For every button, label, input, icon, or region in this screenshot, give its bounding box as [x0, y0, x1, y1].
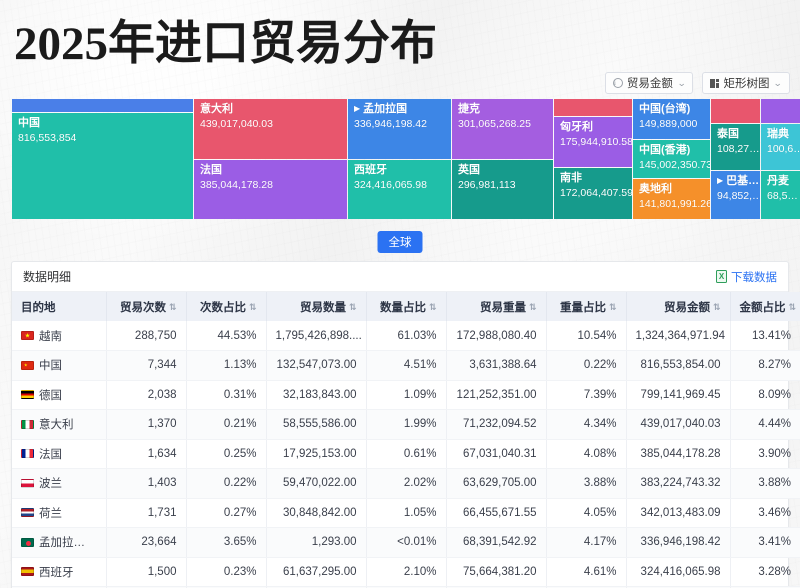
flag-icon-es	[21, 567, 34, 576]
destination-wrapper: 中国	[21, 357, 97, 373]
cell-destination: 越南	[12, 321, 106, 351]
column-header-label: 次数占比	[200, 302, 246, 314]
cell-destination: 西班牙	[12, 557, 106, 587]
cell-quantity: 1,293.00	[266, 528, 366, 558]
chevron-down-icon: ⌄	[774, 78, 783, 89]
cell-trade_count: 1,500	[106, 557, 186, 587]
treemap-cell-value: 149,889,000	[639, 118, 704, 131]
play-triangle-icon: ▶	[354, 105, 360, 113]
table-row[interactable]: 越南288,75044.53%1,795,426,898....61.03%17…	[12, 321, 800, 351]
table-row[interactable]: 西班牙1,5000.23%61,637,295.002.10%75,664,38…	[12, 557, 800, 587]
cell-destination: 德国	[12, 380, 106, 410]
cell-trade_count: 288,750	[106, 321, 186, 351]
treemap-cell[interactable]: 中国816,553,854	[12, 113, 193, 219]
cell-amount_pct: 8.09%	[730, 380, 800, 410]
treemap-cell-value: 108,27…	[717, 143, 754, 156]
treemap-cell-name: 中国	[18, 117, 40, 130]
sort-toggle-icon[interactable]: ⇅	[249, 303, 257, 312]
table-row[interactable]: 荷兰1,7310.27%30,848,842.001.05%66,455,671…	[12, 498, 800, 528]
flag-icon-bd	[21, 538, 34, 547]
cell-trade_count: 1,403	[106, 469, 186, 499]
treemap-cell-label: 捷克	[458, 103, 547, 116]
metric-selector-button[interactable]: i 贸易金额 ⌄	[605, 72, 694, 94]
treemap-cell[interactable]: 泰国108,27…	[711, 124, 760, 170]
cell-weight_pct: 4.08%	[546, 439, 626, 469]
cell-qty_pct: 4.51%	[366, 351, 446, 381]
column-header-count_pct[interactable]: 次数占比⇅	[186, 292, 266, 321]
destination-wrapper: 西班牙	[21, 564, 97, 580]
sort-toggle-icon[interactable]: ⇅	[713, 303, 721, 312]
destination-name: 西班牙	[39, 564, 74, 580]
cell-weight: 71,232,094.52	[446, 410, 546, 440]
cell-amount: 342,013,483.09	[626, 498, 730, 528]
cell-amount: 383,224,743.32	[626, 469, 730, 499]
cell-destination: 波兰	[12, 469, 106, 499]
column-header-weight_pct[interactable]: 重量占比⇅	[546, 292, 626, 321]
treemap-cell-value: 439,017,040.03	[200, 118, 341, 131]
download-data-button[interactable]: X 下载数据	[716, 269, 777, 285]
flag-icon-vn	[21, 331, 34, 340]
cell-count_pct: 1.13%	[186, 351, 266, 381]
cell-trade_count: 1,731	[106, 498, 186, 528]
data-detail-panel: 数据明细 X 下载数据 目的地贸易次数⇅次数占比⇅贸易数量⇅数量占比⇅贸易重量⇅…	[11, 261, 789, 588]
flag-icon-it	[21, 420, 34, 429]
cell-qty_pct: <0.01%	[366, 528, 446, 558]
cell-amount: 816,553,854.00	[626, 351, 730, 381]
treemap-cell[interactable]: 法国385,044,178.28	[194, 160, 347, 219]
flag-icon-nl	[21, 508, 34, 517]
cell-destination: 荷兰	[12, 498, 106, 528]
cell-amount: 439,017,040.03	[626, 410, 730, 440]
table-header: 目的地贸易次数⇅次数占比⇅贸易数量⇅数量占比⇅贸易重量⇅重量占比⇅贸易金额⇅金额…	[12, 292, 800, 321]
treemap-cell-name: 匈牙利	[560, 121, 593, 134]
cell-weight_pct: 4.05%	[546, 498, 626, 528]
cell-qty_pct: 1.09%	[366, 380, 446, 410]
cell-qty_pct: 1.99%	[366, 410, 446, 440]
treemap-cell-label: 中国	[18, 117, 187, 130]
sort-toggle-icon[interactable]: ⇅	[169, 303, 177, 312]
treemap-cell[interactable]: 南非172,064,407.59	[554, 168, 632, 219]
treemap-cell-label: 西班牙	[354, 164, 445, 177]
treemap-cell[interactable]: 捷克301,065,268.25	[452, 99, 553, 159]
page-title: 2025年进口贸易分布	[14, 16, 437, 72]
cell-count_pct: 3.65%	[186, 528, 266, 558]
treemap-cell-partial[interactable]	[711, 99, 760, 123]
cell-count_pct: 0.25%	[186, 439, 266, 469]
column-header-label: 贸易数量	[300, 302, 346, 314]
treemap-cell[interactable]: ▶孟加拉国336,946,198.42	[348, 99, 451, 159]
destination-name: 孟加拉…	[39, 534, 85, 550]
cell-trade_count: 7,344	[106, 351, 186, 381]
treemap-cell-label: 中国(台湾)	[639, 103, 704, 116]
treemap-cell-label: 泰国	[717, 128, 754, 141]
cell-weight_pct: 7.39%	[546, 380, 626, 410]
cell-amount_pct: 3.88%	[730, 469, 800, 499]
treemap-cell-name: 中国(台湾)	[639, 103, 690, 116]
cell-weight: 66,455,671.55	[446, 498, 546, 528]
treemap-cell-label: ▶孟加拉国	[354, 103, 445, 116]
cell-destination: 意大利	[12, 410, 106, 440]
global-filter-pill[interactable]: 全球	[378, 231, 423, 253]
treemap-cell[interactable]: 意大利439,017,040.03	[194, 99, 347, 159]
treemap-cell[interactable]: 中国(台湾)149,889,000	[633, 99, 710, 139]
cell-weight: 172,988,080.40	[446, 321, 546, 351]
trade-data-table: 目的地贸易次数⇅次数占比⇅贸易数量⇅数量占比⇅贸易重量⇅重量占比⇅贸易金额⇅金额…	[12, 292, 800, 588]
destination-name: 意大利	[39, 416, 74, 432]
cell-weight: 121,252,351.00	[446, 380, 546, 410]
sort-toggle-icon[interactable]: ⇅	[609, 303, 617, 312]
treemap-cell[interactable]: 奥地利141,801,991.26	[633, 179, 710, 219]
cell-amount: 324,416,065.98	[626, 557, 730, 587]
table-row[interactable]: 法国1,6340.25%17,925,153.000.61%67,031,040…	[12, 439, 800, 469]
cell-quantity: 30,848,842.00	[266, 498, 366, 528]
treemap-cell-value: 296,981,113	[458, 179, 547, 192]
cell-amount: 1,324,364,971.94	[626, 321, 730, 351]
treemap-cell-label: ▶巴基…	[717, 175, 754, 188]
treemap-cell-value: 172,064,407.59	[560, 187, 626, 200]
destination-wrapper: 波兰	[21, 475, 97, 491]
treemap-cell-name: 奥地利	[639, 183, 672, 196]
treemap-cell-value: 175,944,910.58	[560, 136, 626, 149]
treemap-cell-name: 中国(香港)	[639, 144, 690, 157]
sort-toggle-icon[interactable]: ⇅	[349, 303, 357, 312]
cell-trade_count: 2,038	[106, 380, 186, 410]
cell-qty_pct: 2.10%	[366, 557, 446, 587]
table-row[interactable]: 孟加拉…23,6643.65%1,293.00<0.01%68,391,542.…	[12, 528, 800, 558]
treemap-cell-label: 南非	[560, 172, 626, 185]
column-header-label: 金额占比	[740, 302, 786, 314]
column-header-label: 目的地	[21, 302, 56, 314]
cell-quantity: 32,183,843.00	[266, 380, 366, 410]
cell-amount_pct: 13.41%	[730, 321, 800, 351]
destination-wrapper: 德国	[21, 387, 97, 403]
cell-amount_pct: 3.41%	[730, 528, 800, 558]
cell-count_pct: 0.21%	[186, 410, 266, 440]
cell-quantity: 59,470,022.00	[266, 469, 366, 499]
table-header-row: 目的地贸易次数⇅次数占比⇅贸易数量⇅数量占比⇅贸易重量⇅重量占比⇅贸易金额⇅金额…	[12, 292, 800, 321]
cell-weight_pct: 4.34%	[546, 410, 626, 440]
destination-name: 越南	[39, 328, 62, 344]
treemap-chart[interactable]: 中国816,553,854意大利439,017,040.03法国385,044,…	[12, 99, 800, 219]
cell-weight: 75,664,381.20	[446, 557, 546, 587]
cell-weight: 3,631,388.64	[446, 351, 546, 381]
treemap-cell[interactable]: ▶巴基…94,852,…	[711, 171, 760, 219]
treemap-cell-label: 丹麦	[767, 175, 796, 188]
destination-name: 德国	[39, 387, 62, 403]
play-triangle-icon: ▶	[717, 177, 723, 185]
cell-quantity: 17,925,153.00	[266, 439, 366, 469]
treemap-cell[interactable]: 英国296,981,113	[452, 160, 553, 219]
destination-wrapper: 荷兰	[21, 505, 97, 521]
cell-amount: 336,946,198.42	[626, 528, 730, 558]
destination-wrapper: 孟加拉…	[21, 534, 97, 550]
cell-amount_pct: 3.46%	[730, 498, 800, 528]
cell-qty_pct: 2.02%	[366, 469, 446, 499]
cell-amount_pct: 8.27%	[730, 351, 800, 381]
cell-count_pct: 0.23%	[186, 557, 266, 587]
cell-count_pct: 0.22%	[186, 469, 266, 499]
column-header-quantity[interactable]: 贸易数量⇅	[266, 292, 366, 321]
chart-type-selector-label: 矩形树图	[723, 75, 769, 91]
treemap-cell[interactable]: 瑞典100,6…	[761, 124, 800, 170]
sort-toggle-icon[interactable]: ⇅	[429, 303, 437, 312]
treemap-cell-value: 141,801,991.26	[639, 198, 704, 211]
cell-trade_count: 23,664	[106, 528, 186, 558]
treemap-cell-label: 中国(香港)	[639, 144, 704, 157]
table-row[interactable]: 德国2,0380.31%32,183,843.001.09%121,252,35…	[12, 380, 800, 410]
destination-name: 法国	[39, 446, 62, 462]
cell-weight: 67,031,040.31	[446, 439, 546, 469]
destination-name: 荷兰	[39, 505, 62, 521]
destination-wrapper: 意大利	[21, 416, 97, 432]
destination-wrapper: 法国	[21, 446, 97, 462]
cell-count_pct: 0.31%	[186, 380, 266, 410]
treemap-cell-value: 301,065,268.25	[458, 118, 547, 131]
treemap-cell-label: 奥地利	[639, 183, 704, 196]
treemap-cell-name: 法国	[200, 164, 222, 177]
cell-weight_pct: 4.17%	[546, 528, 626, 558]
treemap-cell-value: 100,6…	[767, 143, 796, 156]
treemap-cell-name: 意大利	[200, 103, 233, 116]
treemap-cell-partial[interactable]	[761, 99, 800, 123]
treemap-cell-name: 南非	[560, 172, 582, 185]
treemap-cell-value: 816,553,854	[18, 132, 187, 145]
cell-weight_pct: 10.54%	[546, 321, 626, 351]
sort-toggle-icon[interactable]: ⇅	[789, 303, 797, 312]
column-header-dest: 目的地	[12, 292, 106, 321]
treemap-cell-name: 巴基…	[726, 175, 759, 188]
treemap-cell-name: 英国	[458, 164, 480, 177]
table-body: 越南288,75044.53%1,795,426,898....61.03%17…	[12, 321, 800, 588]
cell-weight_pct: 0.22%	[546, 351, 626, 381]
cell-amount: 799,141,969.45	[626, 380, 730, 410]
cell-destination: 法国	[12, 439, 106, 469]
treemap-cell-name: 孟加拉国	[363, 103, 407, 116]
flag-icon-fr	[21, 449, 34, 458]
import-trade-distribution-page: 2025年进口贸易分布 i 贸易金额 ⌄ 矩形树图 ⌄ 中国816,553,85…	[0, 0, 800, 588]
chevron-down-icon: ⌄	[677, 78, 686, 89]
cell-qty_pct: 61.03%	[366, 321, 446, 351]
data-detail-panel-header: 数据明细 X 下载数据	[12, 262, 788, 292]
treemap-cell-name: 捷克	[458, 103, 480, 116]
table-row[interactable]: 波兰1,4030.22%59,470,022.002.02%63,629,705…	[12, 469, 800, 499]
data-detail-heading: 数据明细	[23, 268, 71, 285]
column-header-trade_count[interactable]: 贸易次数⇅	[106, 292, 186, 321]
treemap-cell[interactable]: 中国(香港)145,002,350.73	[633, 140, 710, 178]
treemap-cell-value: 385,044,178.28	[200, 179, 341, 192]
column-header-label: 贸易重量	[480, 302, 526, 314]
column-header-qty_pct[interactable]: 数量占比⇅	[366, 292, 446, 321]
cell-amount_pct: 4.44%	[730, 410, 800, 440]
cell-weight_pct: 3.88%	[546, 469, 626, 499]
flag-icon-pl	[21, 479, 34, 488]
excel-file-icon: X	[716, 270, 727, 283]
cell-trade_count: 1,634	[106, 439, 186, 469]
cell-trade_count: 1,370	[106, 410, 186, 440]
treemap-cell-label: 匈牙利	[560, 121, 626, 134]
treemap-cell-name: 瑞典	[767, 128, 789, 141]
treemap-cell-name: 西班牙	[354, 164, 387, 177]
column-header-label: 贸易次数	[120, 302, 166, 314]
treemap-cell-label: 意大利	[200, 103, 341, 116]
destination-name: 波兰	[39, 475, 62, 491]
column-header-label: 数量占比	[380, 302, 426, 314]
column-header-weight[interactable]: 贸易重量⇅	[446, 292, 546, 321]
cell-weight: 68,391,542.92	[446, 528, 546, 558]
destination-wrapper: 越南	[21, 328, 97, 344]
cell-qty_pct: 1.05%	[366, 498, 446, 528]
destination-name: 中国	[39, 357, 62, 373]
treemap-cell-partial[interactable]	[554, 99, 632, 116]
treemap-cell[interactable]: 丹麦68,5…	[761, 171, 800, 219]
treemap-cell-label: 瑞典	[767, 128, 796, 141]
treemap-cell-name: 泰国	[717, 128, 739, 141]
cell-destination: 孟加拉…	[12, 528, 106, 558]
cell-count_pct: 44.53%	[186, 321, 266, 351]
treemap-icon	[710, 79, 719, 88]
treemap-cell-label: 英国	[458, 164, 547, 177]
cell-weight: 63,629,705.00	[446, 469, 546, 499]
cell-weight_pct: 4.61%	[546, 557, 626, 587]
table-row[interactable]: 中国7,3441.13%132,547,073.004.51%3,631,388…	[12, 351, 800, 381]
treemap-cell-value: 324,416,065.98	[354, 179, 445, 192]
treemap-cell[interactable]: 西班牙324,416,065.98	[348, 160, 451, 219]
column-header-amount_pct[interactable]: 金额占比⇅	[730, 292, 800, 321]
cell-amount_pct: 3.90%	[730, 439, 800, 469]
treemap-cell-value: 94,852,…	[717, 190, 754, 203]
cell-quantity: 132,547,073.00	[266, 351, 366, 381]
treemap-cell-partial[interactable]	[12, 99, 193, 112]
cell-qty_pct: 0.61%	[366, 439, 446, 469]
cell-amount_pct: 3.28%	[730, 557, 800, 587]
table-row[interactable]: 意大利1,3700.21%58,555,586.001.99%71,232,09…	[12, 410, 800, 440]
cell-quantity: 61,637,295.00	[266, 557, 366, 587]
cell-quantity: 58,555,586.00	[266, 410, 366, 440]
flag-icon-de	[21, 390, 34, 399]
chart-toolbar: i 贸易金额 ⌄ 矩形树图 ⌄	[605, 72, 790, 94]
cell-quantity: 1,795,426,898....	[266, 321, 366, 351]
cell-destination: 中国	[12, 351, 106, 381]
column-header-amount[interactable]: 贸易金额⇅	[626, 292, 730, 321]
column-header-label: 贸易金额	[664, 302, 710, 314]
treemap-cell-value: 145,002,350.73	[639, 159, 704, 172]
cell-amount: 385,044,178.28	[626, 439, 730, 469]
chart-type-selector-button[interactable]: 矩形树图 ⌄	[702, 72, 790, 94]
info-circle-icon: i	[613, 78, 623, 88]
treemap-cell-value: 68,5…	[767, 190, 796, 203]
treemap-cell-name: 丹麦	[767, 175, 789, 188]
treemap-cell[interactable]: 匈牙利175,944,910.58	[554, 117, 632, 167]
treemap-cell-label: 法国	[200, 164, 341, 177]
treemap-cell-value: 336,946,198.42	[354, 118, 445, 131]
column-header-label: 重量占比	[560, 302, 606, 314]
metric-selector-label: 贸易金额	[627, 75, 673, 91]
cell-count_pct: 0.27%	[186, 498, 266, 528]
download-data-label: 下载数据	[731, 269, 777, 285]
sort-toggle-icon[interactable]: ⇅	[529, 303, 537, 312]
flag-icon-cn	[21, 361, 34, 370]
